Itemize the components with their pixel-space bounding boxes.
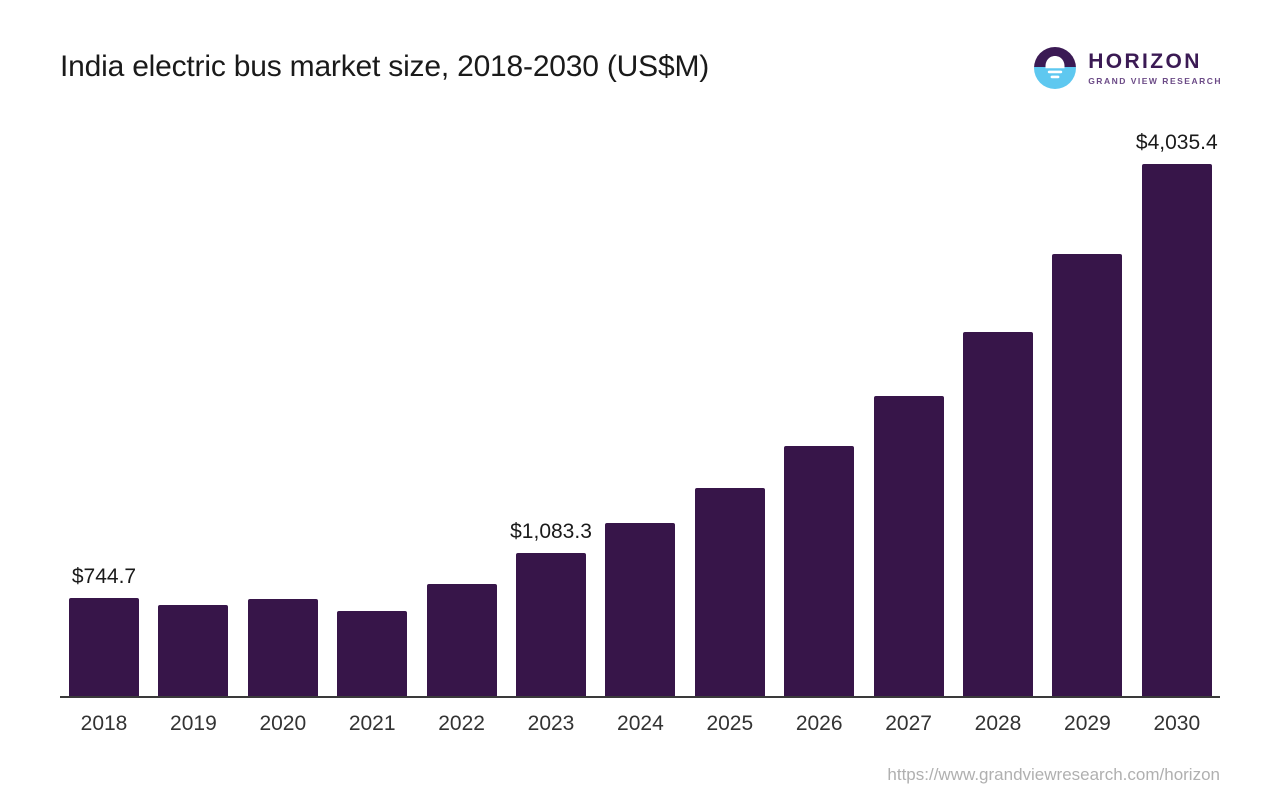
x-tick-label-2029: 2029 [1037, 712, 1137, 736]
bar-2030[interactable] [1142, 164, 1212, 696]
x-tick-label-2030: 2030 [1127, 712, 1227, 736]
x-tick-label-2027: 2027 [859, 712, 959, 736]
bar-value-label-2030: $4,035.4 [1087, 131, 1267, 155]
x-tick-label-2028: 2028 [948, 712, 1048, 736]
bar-2025[interactable] [695, 488, 765, 696]
bar-2024[interactable] [605, 523, 675, 696]
bar-2020[interactable] [248, 599, 318, 696]
x-tick-label-2022: 2022 [412, 712, 512, 736]
x-tick-label-2024: 2024 [590, 712, 690, 736]
x-tick-label-2018: 2018 [54, 712, 154, 736]
x-tick-label-2026: 2026 [769, 712, 869, 736]
bar-chart-plot: $744.720182019202020212022$1,083.3202320… [0, 0, 1280, 800]
bar-2029[interactable] [1052, 254, 1122, 696]
x-tick-label-2023: 2023 [501, 712, 601, 736]
bar-value-label-2018: $744.7 [14, 565, 194, 589]
bar-2028[interactable] [963, 332, 1033, 696]
bar-2023[interactable] [516, 553, 586, 696]
bar-2018[interactable] [69, 598, 139, 696]
bar-2022[interactable] [427, 584, 497, 696]
source-url: https://www.grandviewresearch.com/horizo… [887, 765, 1220, 785]
bar-2019[interactable] [158, 605, 228, 696]
x-axis-line [60, 696, 1220, 698]
x-tick-label-2020: 2020 [233, 712, 333, 736]
x-tick-label-2025: 2025 [680, 712, 780, 736]
x-tick-label-2019: 2019 [143, 712, 243, 736]
bar-2026[interactable] [784, 446, 854, 696]
bar-2027[interactable] [874, 396, 944, 696]
bar-2021[interactable] [337, 611, 407, 696]
x-tick-label-2021: 2021 [322, 712, 422, 736]
chart-page: India electric bus market size, 2018-203… [0, 0, 1280, 800]
